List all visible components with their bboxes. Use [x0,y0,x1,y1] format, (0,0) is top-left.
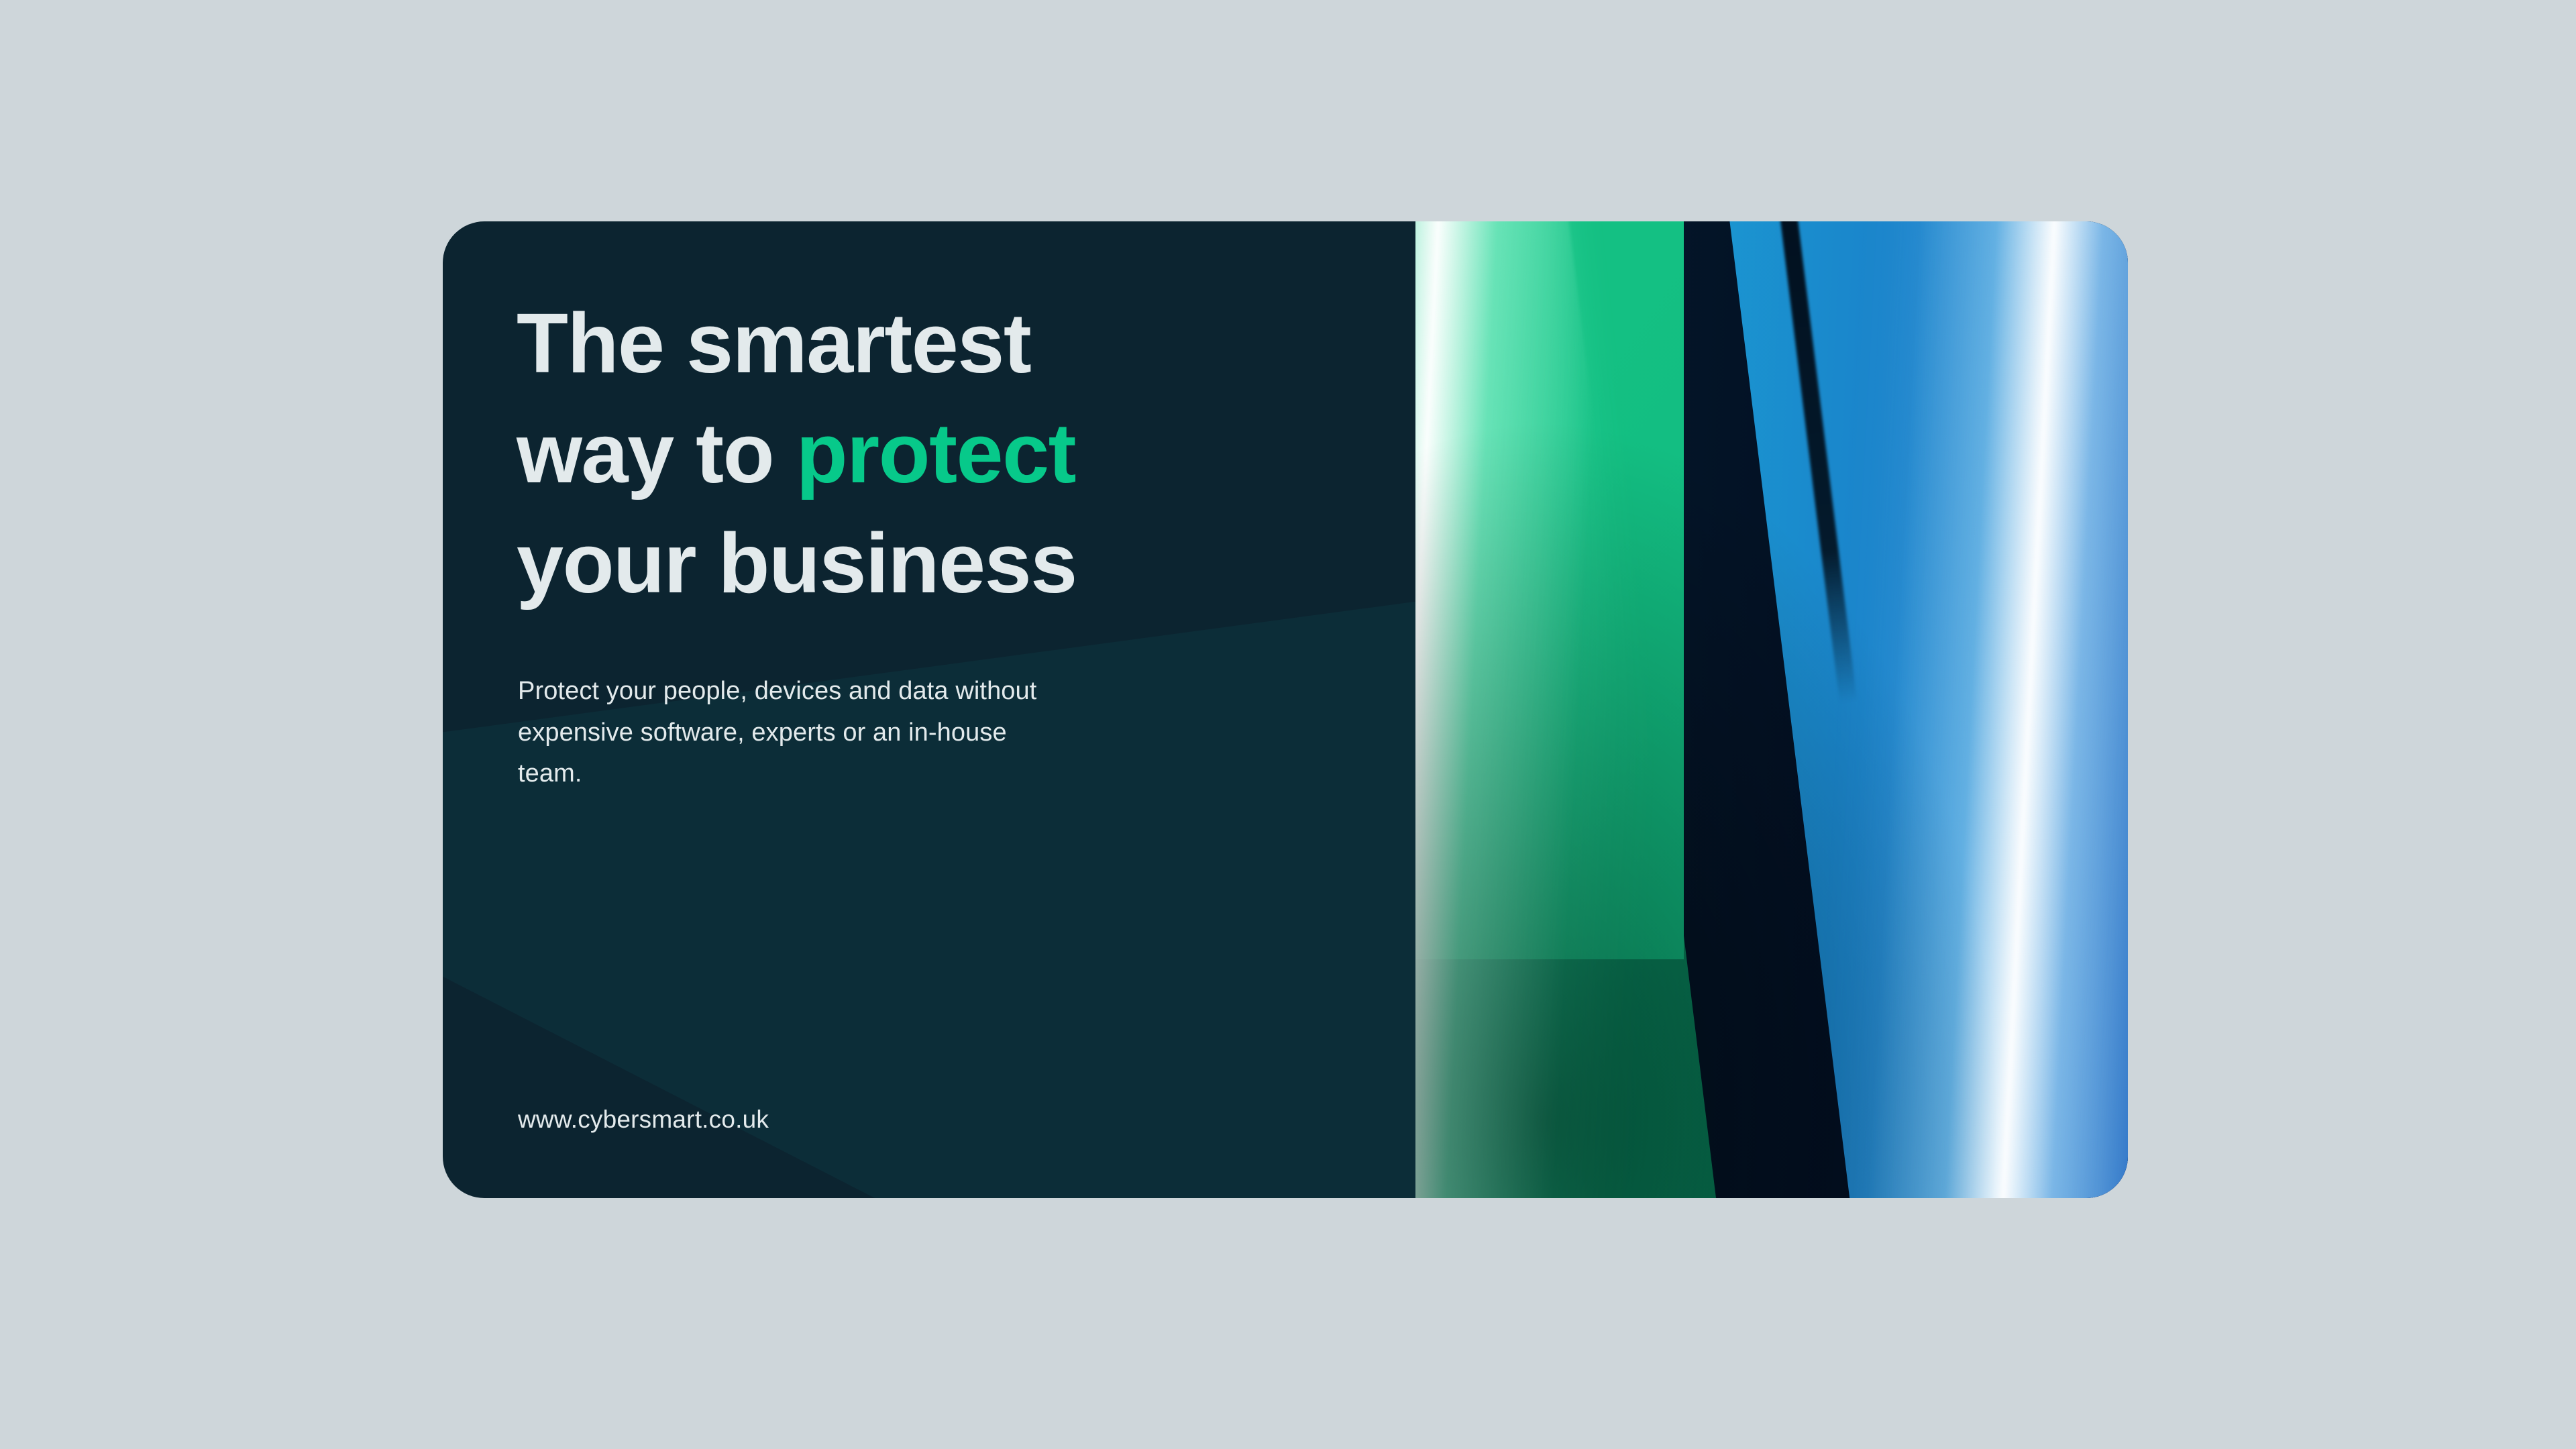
screenshot-canvas: The smartestway to protectyour business … [0,0,2576,1449]
headline-line-2-prefix: way to [517,406,796,500]
card-artwork-panel [1415,221,2128,1198]
subcopy-paragraph: Protect your people, devices and data wi… [518,671,1068,795]
card-text-panel: The smartestway to protectyour business … [443,221,1415,1198]
headline-line-3: your business [517,516,1077,610]
website-url[interactable]: www.cybersmart.co.uk [518,1106,769,1134]
page-title: The smartestway to protectyour business [517,288,1355,618]
panel-content: The smartestway to protectyour business … [443,221,1415,1198]
marketing-card: The smartestway to protectyour business … [443,221,2128,1198]
headline-accent-word: protect [796,406,1076,500]
headline-line-1: The smartest [517,296,1030,390]
